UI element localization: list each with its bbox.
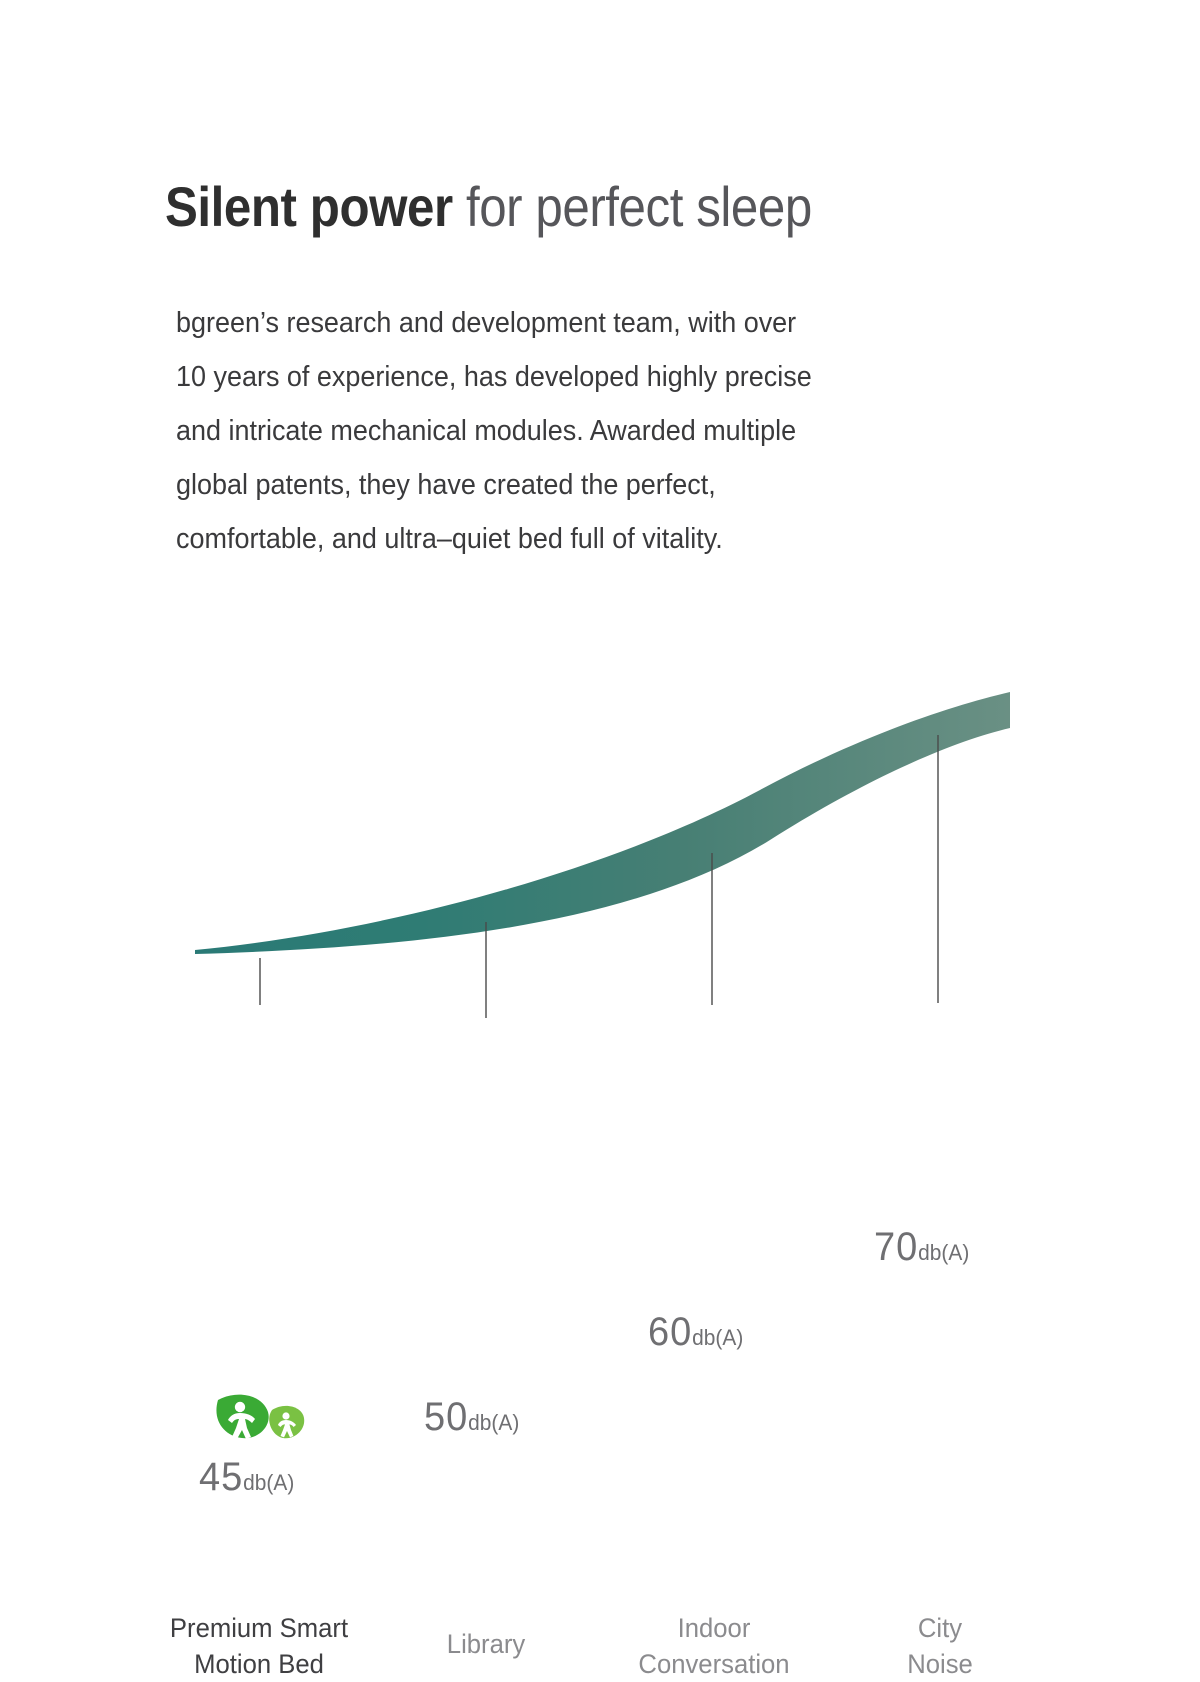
category-line-0-2: Motion Bed [151,1646,368,1682]
category-line-3-1: City [860,1610,1020,1646]
value-number-60: 60 [648,1310,692,1354]
noise-comparison-chart: 45db(A) 50db(A) 60db(A) 70db(A) Premium … [0,600,1200,1120]
value-label-premium-smart-motion-bed: 45db(A) [199,1455,294,1500]
category-line-0-1: Premium Smart [151,1610,368,1646]
category-label-indoor-conversation: Indoor Conversation [606,1610,823,1682]
page-title: Silent power for perfect sleep [165,172,957,242]
category-label-city-noise: City Noise [860,1610,1020,1682]
value-unit-50: db(A) [468,1410,519,1435]
category-line-1-1: Library [401,1626,572,1662]
category-line-3-2: Noise [860,1646,1020,1682]
noise-curve-graphic [0,600,1200,1120]
body-line-4: global patents, they have created the pe… [176,458,965,512]
category-line-2-1: Indoor [606,1610,823,1646]
value-number-50: 50 [424,1395,468,1439]
category-line-2-2: Conversation [606,1646,823,1682]
body-paragraph: bgreen’s research and development team, … [176,296,965,566]
body-line-5: comfortable, and ultra–quiet bed full of… [176,512,965,566]
noise-curve-ribbon [195,692,1010,954]
category-label-library: Library [401,1626,572,1662]
value-label-city-noise: 70db(A) [874,1225,969,1270]
page-title-strong: Silent power [165,175,453,238]
page-title-light: for perfect sleep [453,175,812,238]
value-number-45: 45 [199,1455,243,1499]
category-label-premium-smart-motion-bed: Premium Smart Motion Bed [151,1610,368,1682]
value-label-indoor-conversation: 60db(A) [648,1310,743,1355]
body-line-3: and intricate mechanical modules. Awarde… [176,404,965,458]
value-unit-60: db(A) [692,1325,743,1350]
value-label-library: 50db(A) [424,1395,519,1440]
bgreen-leaf-logo-icon [210,1390,306,1442]
body-line-2: 10 years of experience, has developed hi… [176,350,965,404]
value-unit-70: db(A) [918,1240,969,1265]
value-unit-45: db(A) [243,1470,294,1495]
value-number-70: 70 [874,1225,918,1269]
body-line-1: bgreen’s research and development team, … [176,296,965,350]
